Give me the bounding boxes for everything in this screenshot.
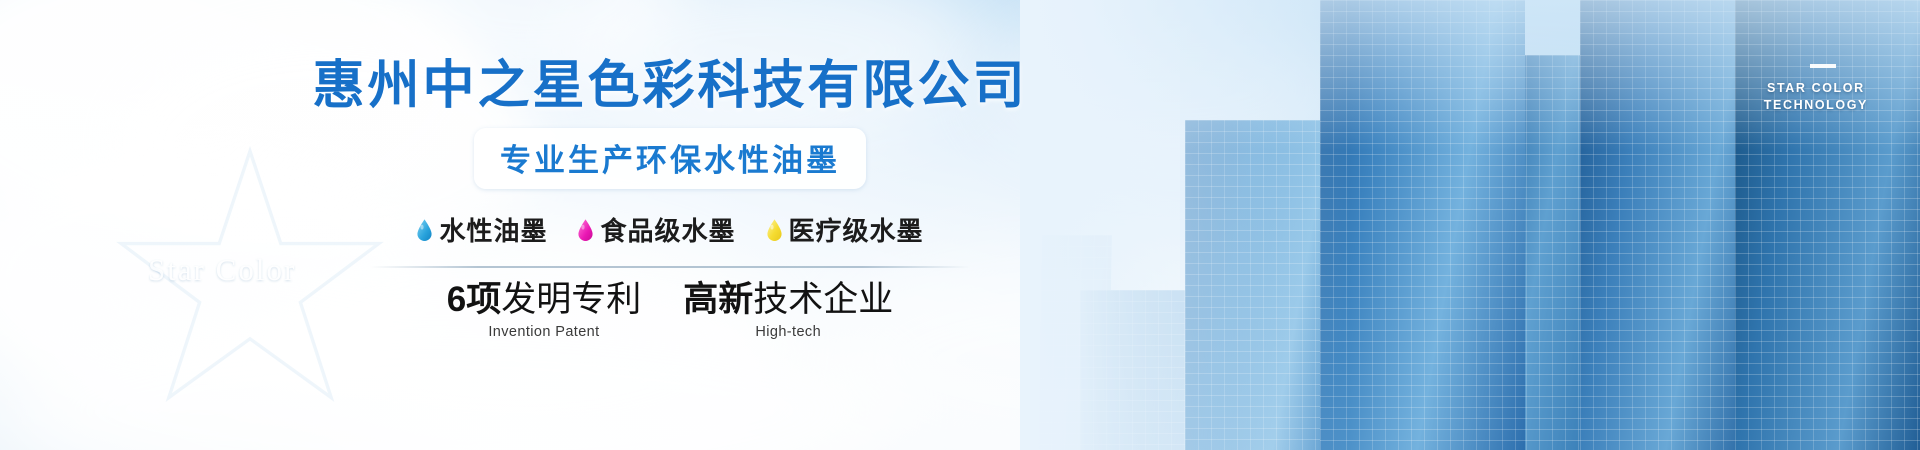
feature-item: 医疗级水墨	[766, 211, 924, 248]
feature-item: 食品级水墨	[577, 211, 735, 248]
badge-chinese: 高新技术企业	[683, 282, 893, 319]
water-drop-icon	[416, 218, 433, 242]
badge-item: 高新技术企业 High-tech	[683, 282, 893, 340]
section-divider	[370, 266, 970, 268]
brand-mark: STAR COLOR TECHNOLOGY	[1764, 80, 1868, 114]
badge-list: 6项发明专利 Invention Patent 高新技术企业 High-tech	[447, 282, 894, 340]
badge-chinese-strong: 高新	[683, 280, 753, 319]
badge-english: Invention Patent	[447, 324, 641, 340]
badge-chinese-strong: 6项	[447, 280, 501, 319]
feature-label: 水性油墨	[439, 211, 547, 248]
brand-line-2: TECHNOLOGY	[1764, 97, 1868, 114]
water-drop-icon	[577, 218, 594, 242]
subtitle-text: 专业生产环保水性油墨	[500, 135, 840, 180]
badge-chinese: 6项发明专利	[447, 282, 641, 319]
badge-chinese-light: 发明专利	[501, 280, 641, 319]
banner-content: 惠州中之星色彩科技有限公司 专业生产环保水性油墨 水性油墨	[0, 0, 1340, 450]
water-drop-icon	[766, 218, 783, 242]
badge-item: 6项发明专利 Invention Patent	[447, 282, 641, 340]
feature-item: 水性油墨	[416, 211, 547, 248]
badge-chinese-light: 技术企业	[753, 280, 893, 319]
brand-dash-icon	[1810, 64, 1836, 68]
brand-line-1: STAR COLOR	[1764, 80, 1868, 97]
feature-label: 医疗级水墨	[789, 211, 924, 248]
company-headline: 惠州中之星色彩科技有限公司	[312, 58, 1027, 114]
feature-label: 食品级水墨	[600, 211, 735, 248]
badge-english: High-tech	[683, 324, 893, 340]
feature-list: 水性油墨 食品级水墨	[416, 211, 923, 248]
promo-banner: Star Color STAR COLOR TECHNOLOGY 惠州中之星色彩…	[0, 0, 1920, 450]
subtitle-pill: 专业生产环保水性油墨	[474, 128, 866, 189]
